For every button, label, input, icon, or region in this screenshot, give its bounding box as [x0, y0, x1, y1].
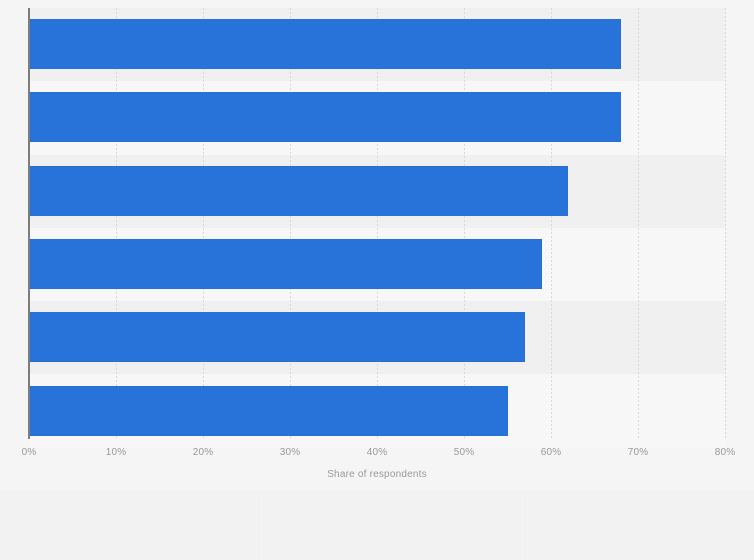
footer-divider: [522, 512, 523, 560]
x-axis-tick-label-70: 70%: [598, 447, 678, 458]
footer-upper-strip: [0, 490, 754, 512]
bar-chart: 0%10%20%30%40%50%60%70%80% Share of resp…: [0, 0, 754, 560]
gridline-20: [203, 8, 204, 439]
gridline-70: [638, 8, 639, 439]
x-axis-tick-label-20: 20%: [163, 447, 243, 458]
x-axis-tick-label-80: 80%: [685, 447, 754, 458]
x-axis-tick-label-40: 40%: [337, 447, 417, 458]
footer-strip: [0, 512, 754, 560]
gridline-40: [377, 8, 378, 439]
gridline-80: [725, 8, 726, 439]
bar[interactable]: [29, 239, 542, 289]
bar[interactable]: [29, 386, 508, 436]
gridline-30: [290, 8, 291, 439]
x-axis-tick-label-30: 30%: [250, 447, 330, 458]
x-axis-title: Share of respondents: [0, 469, 754, 480]
gridline-60: [551, 8, 552, 439]
x-axis-tick-label-50: 50%: [424, 447, 504, 458]
footer-divider: [261, 490, 262, 512]
x-axis-tick-label-60: 60%: [511, 447, 591, 458]
bar[interactable]: [29, 312, 525, 362]
gridline-10: [116, 8, 117, 439]
x-axis-title-label: Share of respondents: [327, 469, 427, 480]
y-axis-line: [28, 8, 30, 439]
gridline-50: [464, 8, 465, 439]
bar[interactable]: [29, 92, 621, 142]
footer-divider: [522, 490, 523, 512]
bar[interactable]: [29, 166, 568, 216]
plot-area: [29, 8, 725, 439]
footer-divider: [261, 512, 262, 560]
x-axis-tick-label-0: 0%: [0, 447, 69, 458]
bar[interactable]: [29, 19, 621, 69]
x-axis-tick-label-10: 10%: [76, 447, 156, 458]
